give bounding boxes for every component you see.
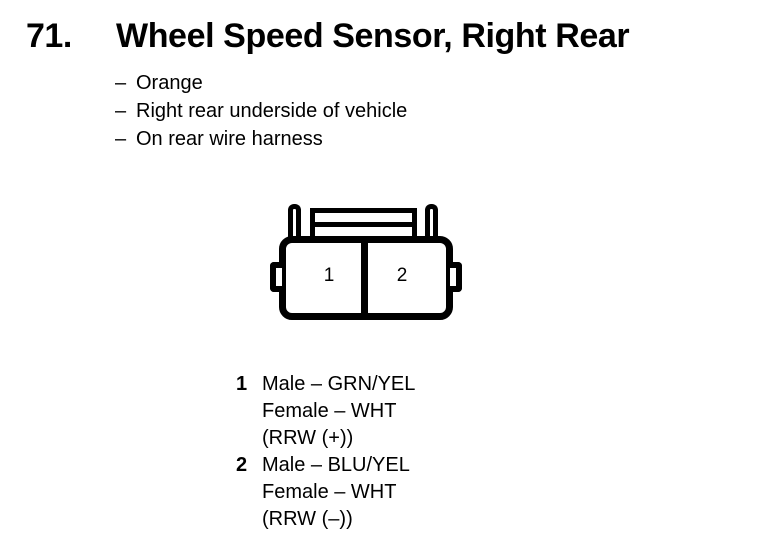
connector-latch-post-right — [425, 204, 438, 240]
list-item: – On rear wire harness — [115, 125, 675, 153]
connector-diagram: 1 2 — [266, 200, 466, 325]
dash-bullet-icon: – — [115, 125, 136, 153]
pin-legend-lines: Male – BLU/YEL Female – WHT (RRW (–)) — [262, 452, 566, 533]
pin-number: 1 — [236, 371, 262, 398]
pin-wire-female: Female – WHT — [262, 479, 566, 506]
connector-cavity-2-label: 2 — [387, 265, 417, 287]
attribute-list: – Orange – Right rear underside of vehic… — [115, 69, 675, 153]
list-item: – Orange — [115, 69, 675, 97]
pin-wire-female: Female – WHT — [262, 398, 566, 425]
connector-latch-bar — [310, 208, 417, 237]
connector-cavity-1-label: 1 — [314, 265, 344, 287]
connector-latch-post-left — [288, 204, 301, 240]
list-item-label: Right rear underside of vehicle — [136, 97, 407, 125]
list-item: – Right rear underside of vehicle — [115, 97, 675, 125]
page-title: 71. Wheel Speed Sensor, Right Rear — [26, 17, 746, 61]
pin-circuit-note: (RRW (–)) — [262, 506, 566, 533]
pin-wire-male: Male – BLU/YEL — [262, 452, 566, 479]
pin-legend-lines: Male – GRN/YEL Female – WHT (RRW (+)) — [262, 371, 566, 452]
list-item-label: On rear wire harness — [136, 125, 323, 153]
connector-side-tab-left — [270, 262, 282, 292]
pin-legend-entry-2: 2 Male – BLU/YEL Female – WHT (RRW (–)) — [236, 452, 566, 533]
connector-latch-slot — [315, 222, 412, 227]
pin-number: 2 — [236, 452, 262, 479]
connector-cavity-divider — [361, 236, 368, 320]
connector-side-tab-right — [450, 262, 462, 292]
dash-bullet-icon: – — [115, 69, 136, 97]
pin-legend-entry-1: 1 Male – GRN/YEL Female – WHT (RRW (+)) — [236, 371, 566, 452]
pin-wire-male: Male – GRN/YEL — [262, 371, 566, 398]
dash-bullet-icon: – — [115, 97, 136, 125]
heading-title-text: Wheel Speed Sensor, Right Rear — [116, 17, 629, 56]
pin-circuit-note: (RRW (+)) — [262, 425, 566, 452]
list-item-label: Orange — [136, 69, 203, 97]
pin-legend: 1 Male – GRN/YEL Female – WHT (RRW (+)) … — [236, 371, 566, 533]
heading-item-number: 71. — [26, 17, 116, 56]
